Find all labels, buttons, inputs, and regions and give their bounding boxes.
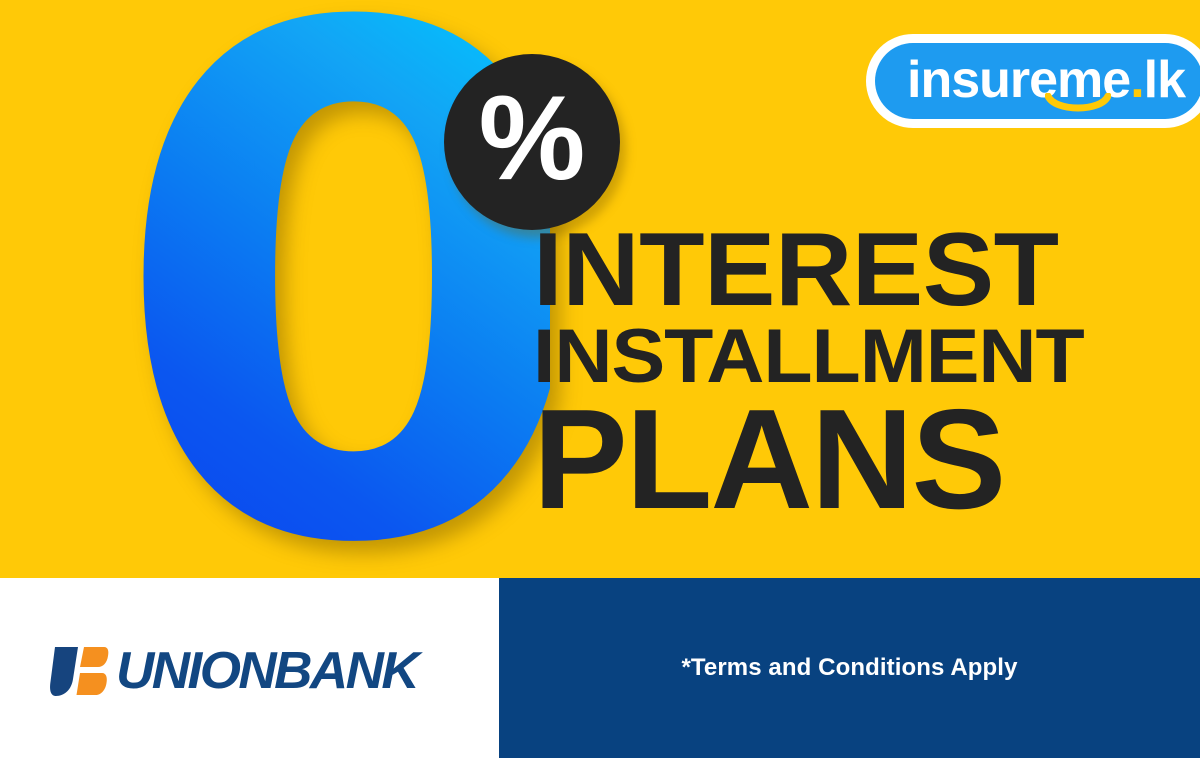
hero-section: 0 0 % INTEREST INSTALLMENT PLANS insurem… [0, 0, 1200, 578]
union-bank-logo[interactable]: UNIONBANK [48, 642, 411, 700]
promotional-banner: 0 0 % INTEREST INSTALLMENT PLANS insurem… [0, 0, 1200, 758]
headline-line-interest: INTEREST [533, 222, 1110, 319]
insureme-logo-pill: insureme.lk [875, 43, 1200, 119]
insureme-name-dot: . [1130, 51, 1143, 109]
union-bank-wordmark: UNIONBANK [116, 645, 417, 697]
percent-badge: % [444, 54, 620, 230]
terms-note: *Terms and Conditions Apply [499, 578, 1200, 758]
smile-swoosh-icon [1045, 93, 1111, 115]
terms-text: *Terms and Conditions Apply [681, 654, 1017, 682]
percent-symbol: % [479, 78, 586, 198]
headline-line-plans: PLANS [533, 395, 1093, 526]
insureme-logo-badge[interactable]: insureme.lk [866, 34, 1200, 128]
ub-monogram-icon [48, 645, 110, 697]
insureme-name-tld: lk [1144, 51, 1185, 109]
headline-block: INTEREST INSTALLMENT PLANS [533, 222, 1093, 525]
